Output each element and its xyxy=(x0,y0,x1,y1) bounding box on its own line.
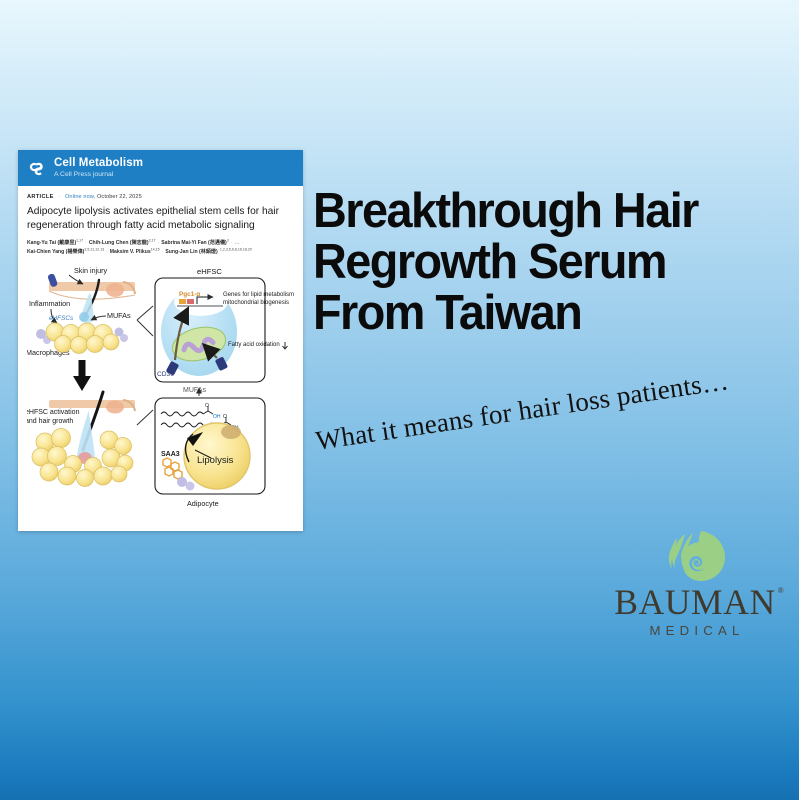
author-item[interactable]: Maksim V. Plikus14,15 xyxy=(110,249,160,255)
author-list: Kang-Yu Tai (戴康昱)1,17·Chih-Lung Chen (陳志… xyxy=(27,238,294,256)
journal-subtitle: A Cell Press journal xyxy=(54,171,143,178)
label-ehfsc-panel: eHFSC xyxy=(197,267,222,276)
journal-header: Cell Metabolism A Cell Press journal xyxy=(18,150,303,186)
label-saa3: SAA3 xyxy=(161,451,180,458)
author-item[interactable]: Kang-Yu Tai (戴康昱)1,17 xyxy=(27,240,83,246)
label-lipolysis: Lipolysis xyxy=(197,455,234,466)
figure-panel-adipocyte: O OH O OH Lipolysis xyxy=(155,398,265,508)
bauman-submark: MEDICAL xyxy=(611,623,779,638)
graphical-abstract-figure: Skin injury Inflammation eHFSCs Macr xyxy=(27,260,294,508)
headline-line-1: Breakthrough Hair xyxy=(313,186,762,237)
author-item[interactable]: Kai-Chien Yang (楊榮偉)3,5,11,12,13 xyxy=(27,249,104,255)
article-type-label: ARTICLE xyxy=(27,194,54,200)
bauman-wordmark-text: BAUMAN xyxy=(614,582,775,622)
label-cd36: CD36 xyxy=(157,371,174,378)
publication-date: October 22, 2025 xyxy=(97,194,142,200)
registered-trademark-symbol: ® xyxy=(778,587,784,595)
author-item[interactable]: Sabrina Mai-Yi Fan (范邁儀)3 xyxy=(161,240,228,246)
subtitle-container: What it means for hair loss patients… xyxy=(316,388,786,468)
journal-name: Cell Metabolism xyxy=(54,157,143,169)
page-title: Breakthrough Hair Regrowth Serum From Ta… xyxy=(313,186,762,340)
cell-press-logo-icon xyxy=(26,158,47,179)
label-genes-line2: mitochondrial biogenesis xyxy=(223,300,289,306)
subtitle-text: What it means for hair loss patients… xyxy=(314,365,731,457)
label-ehfsc-activation: eHFSC activation xyxy=(27,409,80,416)
poster-canvas: Cell Metabolism A Cell Press journal ART… xyxy=(0,0,799,800)
bauman-medical-logo: BAUMAN® MEDICAL xyxy=(611,528,779,638)
label-ehfscs: eHFSCs xyxy=(49,315,74,322)
author-item[interactable]: Sung-Jan Lin (林銆燈)· 1,2,3,5,6,8,16,18,20 xyxy=(165,249,252,255)
article-title[interactable]: Adipocyte lipolysis activates epithelial… xyxy=(27,205,294,232)
meta-separator: · xyxy=(58,194,60,200)
headline-line-3: From Taiwan xyxy=(313,288,762,339)
adipocyte-cluster-top xyxy=(46,323,119,354)
journal-title-group: Cell Metabolism A Cell Press journal xyxy=(54,157,143,178)
label-o-1: O xyxy=(205,403,209,409)
label-fatty-acid-oxidation: Fatty acid oxidation xyxy=(228,342,280,348)
headline-line-2: Regrowth Serum xyxy=(313,237,762,288)
figure-panel-skin-injury: Skin injury Inflammation eHFSCs Macr xyxy=(27,266,135,391)
figure-panel-hair-growth: eHFSC activation and hair growth xyxy=(27,392,135,487)
label-oh-1: OH xyxy=(213,414,221,420)
bauman-wordmark: BAUMAN® xyxy=(614,585,775,621)
author-ellipsis: … xyxy=(234,240,239,246)
journal-body: ARTICLE · Online now, October 22, 2025 A… xyxy=(18,186,303,508)
label-skin-injury: Skin injury xyxy=(74,266,108,275)
figure-panel-ehfsc: eHFSC Pgc1-α xyxy=(155,267,294,382)
label-inflammation: Inflammation xyxy=(29,299,70,308)
author-item[interactable]: Chih-Lung Chen (陳志龍)2,17 xyxy=(89,240,156,246)
label-adipocyte: Adipocyte xyxy=(187,499,219,508)
svg-text:and hair growth: and hair growth xyxy=(27,418,73,425)
article-meta: ARTICLE · Online now, October 22, 2025 xyxy=(27,194,294,200)
bauman-leaf-swirl-icon xyxy=(663,528,727,584)
journal-screenshot-card: Cell Metabolism A Cell Press journal ART… xyxy=(18,150,303,531)
label-genes-line1: Genes for lipid metabolism & xyxy=(223,292,294,298)
figure-connector xyxy=(137,306,153,336)
label-mufas-top: MUFAs xyxy=(107,311,131,320)
online-status: Online now, xyxy=(65,194,95,200)
label-mufas-mid: MUFAs xyxy=(183,387,206,394)
label-o-2: O xyxy=(223,414,227,420)
